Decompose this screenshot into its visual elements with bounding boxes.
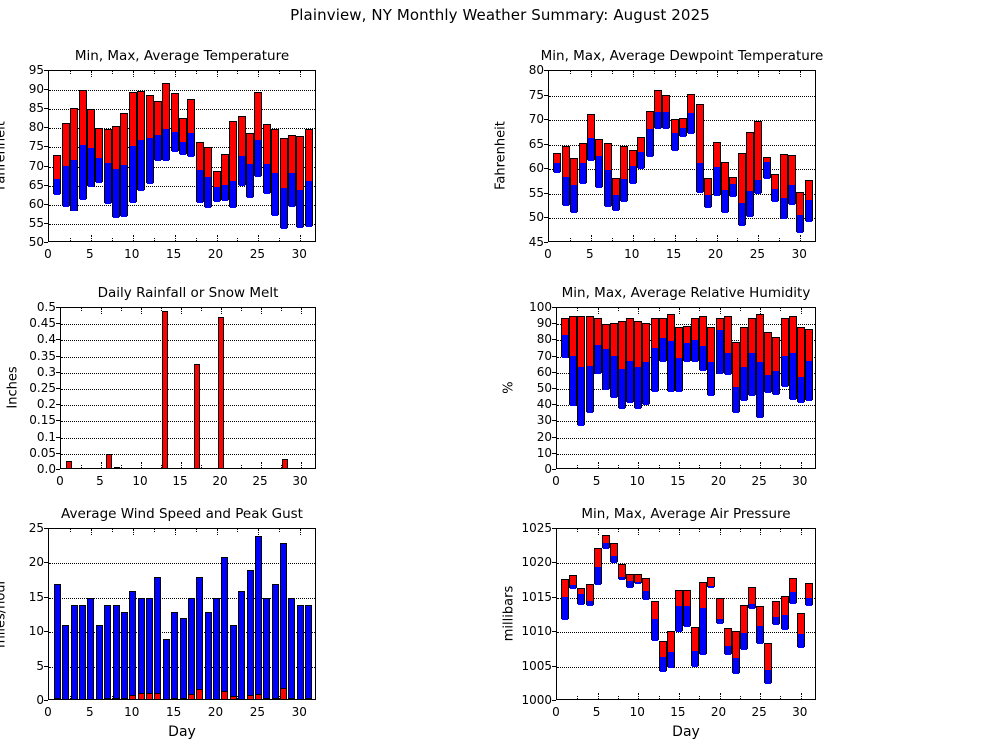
bar-segment-min <box>692 651 698 667</box>
bar-segment-min <box>660 657 666 672</box>
axis-tick <box>638 529 639 535</box>
bar-segment-min <box>676 606 682 632</box>
bar-segment-min <box>619 577 625 580</box>
bar-segment-min <box>765 670 771 684</box>
y-axis-tick-mark <box>552 528 556 529</box>
bar-pressure-day-27 <box>772 601 780 624</box>
bar-segment-max <box>676 591 682 606</box>
bar-pressure-day-19 <box>707 577 715 587</box>
bar-segment-min <box>652 619 658 640</box>
axis-tick <box>699 696 700 699</box>
bar-segment-min <box>643 591 649 600</box>
bar-segment-min <box>668 652 674 668</box>
bar-pressure-day-23 <box>740 605 748 649</box>
bar-pressure-day-14 <box>667 631 675 667</box>
axis-tick <box>679 529 680 535</box>
bar-segment-max <box>798 614 804 634</box>
bar-segment-max <box>757 607 763 626</box>
y-axis-tick-label: 1005 <box>510 660 552 672</box>
x-axis-tick-label: 5 <box>593 706 601 718</box>
axis-tick <box>780 529 781 532</box>
axis-tick <box>577 529 578 532</box>
x-axis-tick-label: 0 <box>552 706 560 718</box>
bar-pressure-day-6 <box>602 535 610 548</box>
bar-segment-max <box>749 588 755 604</box>
bar-pressure-day-1 <box>561 579 569 620</box>
plot-area-pressure <box>556 528 816 700</box>
bar-segment-min <box>798 634 804 648</box>
y-axis-tick-label: 1025 <box>510 522 552 534</box>
chart-panel-pressure: Min, Max, Average Air Pressure1000100510… <box>0 0 1000 750</box>
axis-tick <box>638 693 639 699</box>
bar-segment-max <box>708 578 714 586</box>
bar-segment-max <box>765 644 771 670</box>
x-axis-title-pressure: Day <box>556 724 816 740</box>
y-axis-tick-mark <box>552 597 556 598</box>
bar-segment-max <box>660 642 666 656</box>
bar-segment-min <box>684 606 690 627</box>
bar-pressure-day-5 <box>594 548 602 584</box>
bar-segment-max <box>725 629 731 646</box>
axis-tick <box>801 693 802 699</box>
bar-pressure-day-9 <box>626 574 634 587</box>
bar-pressure-day-3 <box>577 588 585 604</box>
bar-segment-max <box>741 606 747 633</box>
gridline <box>557 632 815 633</box>
axis-tick <box>659 529 660 532</box>
chart-title-pressure: Min, Max, Average Air Pressure <box>496 506 876 522</box>
x-axis-tick-label: 30 <box>792 706 807 718</box>
axis-tick <box>699 529 700 532</box>
y-axis-tick-mark <box>552 700 556 701</box>
bar-segment-max <box>684 591 690 607</box>
bar-segment-max <box>587 585 593 601</box>
bar-segment-max <box>773 602 779 618</box>
bar-pressure-day-30 <box>797 613 805 647</box>
bar-segment-min <box>611 556 617 563</box>
y-axis-title-pressure: millibars <box>502 569 517 659</box>
y-axis-tick-label: 1000 <box>510 694 552 706</box>
bar-segment-min <box>790 592 796 604</box>
bar-segment-min <box>700 608 706 654</box>
bar-segment-max <box>635 575 641 582</box>
bar-pressure-day-10 <box>634 574 642 583</box>
bar-segment-min <box>603 543 609 549</box>
bar-pressure-day-28 <box>781 596 789 629</box>
bar-segment-max <box>782 597 788 616</box>
axis-tick <box>780 696 781 699</box>
bar-pressure-day-7 <box>610 543 618 562</box>
axis-tick <box>598 529 599 535</box>
bar-segment-max <box>603 536 609 543</box>
bar-pressure-day-12 <box>651 601 659 640</box>
bar-pressure-day-11 <box>642 578 650 599</box>
bar-segment-min <box>717 619 723 624</box>
bar-pressure-day-29 <box>789 578 797 603</box>
y-axis-tick-label: 1020 <box>510 556 552 568</box>
axis-tick <box>720 529 721 535</box>
axis-tick <box>659 696 660 699</box>
bar-segment-min <box>725 646 731 656</box>
x-axis-tick-label: 25 <box>751 706 766 718</box>
bar-pressure-day-21 <box>724 628 732 654</box>
bar-pressure-day-25 <box>756 606 764 643</box>
axis-tick <box>740 529 741 532</box>
bar-segment-min <box>782 615 788 629</box>
bar-segment-min <box>578 594 584 605</box>
bar-segment-max <box>652 602 658 620</box>
bar-segment-min <box>708 586 714 589</box>
bar-segment-min <box>749 604 755 610</box>
bar-pressure-day-8 <box>618 564 626 578</box>
bar-segment-max <box>570 576 576 585</box>
bar-segment-min <box>757 626 763 644</box>
bar-pressure-day-20 <box>716 598 724 623</box>
axis-tick <box>760 693 761 699</box>
bar-segment-max <box>611 544 617 556</box>
y-axis-tick-mark <box>552 562 556 563</box>
y-axis-tick-mark <box>552 666 556 667</box>
bar-pressure-day-4 <box>586 584 594 605</box>
bar-segment-min <box>806 598 812 606</box>
bar-segment-min <box>733 658 739 674</box>
bar-segment-min <box>562 597 568 620</box>
bar-segment-min <box>587 601 593 607</box>
bar-segment-max <box>717 599 723 620</box>
bar-segment-max <box>619 565 625 577</box>
axis-tick <box>577 696 578 699</box>
bar-pressure-day-16 <box>683 590 691 626</box>
bar-segment-max <box>595 549 601 567</box>
bar-segment-min <box>627 581 633 588</box>
bar-segment-min <box>570 585 576 589</box>
bar-segment-max <box>806 584 812 598</box>
bar-segment-max <box>733 632 739 658</box>
bar-pressure-day-2 <box>569 575 577 588</box>
axis-tick <box>598 693 599 699</box>
bar-pressure-day-24 <box>748 587 756 608</box>
bar-segment-max <box>562 580 568 597</box>
bar-pressure-day-17 <box>691 627 699 666</box>
bar-segment-max <box>692 628 698 651</box>
bar-pressure-day-26 <box>764 643 772 684</box>
bar-segment-min <box>741 633 747 650</box>
bar-pressure-day-31 <box>805 583 813 606</box>
bar-pressure-day-15 <box>675 590 683 631</box>
bar-segment-max <box>643 579 649 591</box>
bar-segment-min <box>773 617 779 625</box>
y-axis-tick-mark <box>552 631 556 632</box>
bar-pressure-day-13 <box>659 641 667 671</box>
x-axis-tick-label: 20 <box>711 706 726 718</box>
bar-segment-max <box>790 579 796 592</box>
bar-pressure-day-22 <box>732 631 740 673</box>
bar-segment-min <box>595 567 601 585</box>
axis-tick <box>760 529 761 535</box>
axis-tick <box>801 529 802 535</box>
bar-pressure-day-18 <box>699 582 707 654</box>
bar-segment-max <box>700 583 706 608</box>
axis-tick <box>740 696 741 699</box>
axis-tick <box>618 696 619 699</box>
x-axis-tick-label: 15 <box>670 706 685 718</box>
axis-tick <box>720 693 721 699</box>
axis-tick <box>679 693 680 699</box>
weather-summary-page: Plainview, NY Monthly Weather Summary: A… <box>0 0 1000 750</box>
x-axis-tick-label: 10 <box>630 706 645 718</box>
bar-segment-min <box>635 582 641 584</box>
bar-segment-max <box>668 632 674 653</box>
gridline <box>557 667 815 668</box>
axis-tick <box>618 529 619 532</box>
